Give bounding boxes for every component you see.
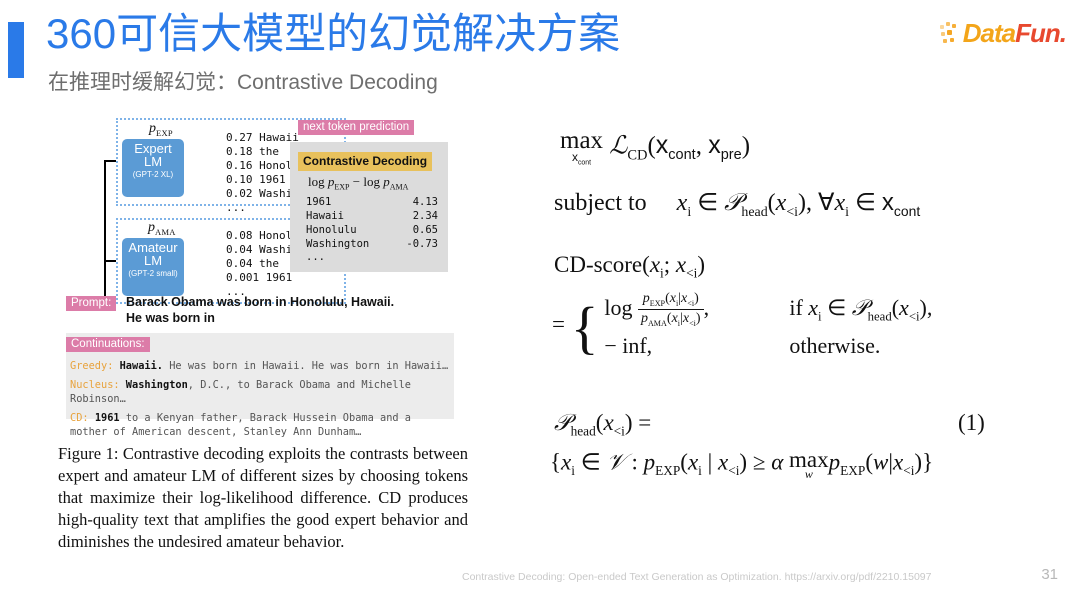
cd-score-token: Honolulu — [306, 224, 392, 238]
case-row-inf: − inf, otherwise. — [604, 329, 932, 362]
loss-symbol: ℒ — [609, 132, 627, 159]
amateur-prob-symbol: pAMA — [148, 220, 176, 237]
max-operator: max xcont — [560, 128, 603, 167]
expert-lm-box: Expert LM (GPT-2 XL) — [122, 139, 184, 197]
vhead-symbol: 𝒫 — [554, 410, 571, 435]
cd-score-formula: log pEXP − log pAMA — [308, 174, 408, 192]
case-log-expression: log pEXP(xi|x<i) pAMA(xi|x<i) , — [604, 291, 789, 329]
equation-number: (1) — [958, 410, 985, 436]
equation-vhead-lhs: 𝒫head(x<i) = — [554, 410, 651, 440]
continuation-method: Nucleus: — [70, 379, 126, 391]
arg-xcont: xcont — [656, 131, 696, 159]
cd-score-token: ... — [306, 251, 392, 265]
logo-text-fun: Fun. — [1015, 18, 1066, 48]
footer-page-number: 31 — [1041, 566, 1058, 583]
amateur-prob-symbol-sub: AMA — [155, 227, 176, 237]
expert-lm-model: (GPT-2 XL) — [122, 171, 184, 179]
continuation-method: CD: — [70, 412, 95, 424]
continuation-first-token: Washington — [126, 379, 188, 391]
page-subtitle: 在推理时缓解幻觉：Contrastive Decoding — [48, 66, 438, 96]
cd-score-value — [392, 251, 438, 265]
cd-score-token: Washington — [306, 238, 392, 252]
datafun-logo: DataFun. — [940, 16, 1066, 50]
cd-score-value: -0.73 — [392, 238, 438, 252]
connector-trunk — [104, 160, 106, 308]
case-inf-condition: otherwise. — [789, 329, 880, 362]
cd-score-token: Hawaii — [306, 210, 392, 224]
constraint-xi: xi — [677, 190, 692, 216]
cases-block: log pEXP(xi|x<i) pAMA(xi|x<i) , if xi ∈ … — [604, 291, 932, 362]
cd-score-row: Hawaii2.34 — [306, 210, 438, 224]
cd-score-value: 2.34 — [392, 210, 438, 224]
case-inf-expression: − inf, — [604, 329, 789, 362]
vhead-subscript: head — [571, 424, 596, 439]
cd-score-list: 19614.13Hawaii2.34Honolulu0.65Washington… — [306, 196, 438, 265]
title-accent-bar — [8, 22, 24, 78]
figure-caption: Figure 1: Contrastive decoding exploits … — [58, 443, 468, 553]
expert-lm-name-line1: Expert — [122, 142, 184, 155]
max-operator-label: max — [560, 128, 603, 153]
equation-vhead-rhs: {xi ∈ 𝒱 : pEXP(xi | x<i) ≥ α max w pEXP(… — [550, 448, 933, 480]
case-row-log: log pEXP(xi|x<i) pAMA(xi|x<i) , if xi ∈ … — [604, 291, 932, 329]
equation-cdscore-cases: = { log pEXP(xi|x<i) pAMA(xi|x<i) , if x… — [552, 291, 932, 362]
contrastive-decoding-header: Contrastive Decoding — [298, 152, 432, 171]
constraint-xcont: xcont — [882, 189, 920, 216]
max-over-w: max w — [789, 448, 829, 480]
expert-prob-symbol: pEXP — [149, 121, 173, 138]
continuations-tag: Continuations: — [66, 337, 150, 352]
cd-score-value: 4.13 — [392, 196, 438, 210]
logo-text-data: Data — [963, 18, 1015, 48]
page-title: 360可信大模型的幻觉解决方案 — [46, 10, 620, 58]
cd-score-row: 19614.13 — [306, 196, 438, 210]
equals-sign: = — [552, 312, 565, 337]
cd-score-label: CD-score — [554, 252, 642, 277]
equation-cdscore-lhs: CD-score(xi; x<i) — [554, 252, 705, 282]
next-token-prediction-label: next token prediction — [298, 120, 414, 135]
continuation-method: Greedy: — [70, 360, 120, 372]
continuations-list: Greedy: Hawaii. He was born in Hawaii. H… — [70, 359, 450, 444]
paper-figure: pEXP Expert LM (GPT-2 XL) 0.27 Hawaii 0.… — [58, 116, 470, 436]
prompt-text: Barack Obama was born in Honolulu, Hawai… — [126, 294, 396, 326]
continuation-line: Nucleus: Washington, D.C., to Barack Oba… — [70, 378, 450, 406]
amateur-lm-model: (GPT-2 small) — [122, 270, 184, 278]
footer-citation: Contrastive Decoding: Open-ended Text Ge… — [462, 571, 931, 583]
case-if-word: if — [789, 295, 802, 320]
cd-score-row: ... — [306, 251, 438, 265]
loss-subscript: CD — [627, 147, 647, 163]
amateur-lm-name-line2: LM — [122, 254, 184, 267]
alpha-symbol: α — [771, 449, 783, 474]
continuation-first-token: Hawaii. — [120, 360, 163, 372]
case-log-condition: if xi ∈ 𝒫head(x<i), — [789, 291, 932, 329]
fraction-denominator: pAMA(xi|x<i) — [638, 310, 704, 328]
equation-constraint: subject to xi ∈ 𝒫head(x<i), ∀xi ∈ xcont — [554, 188, 920, 221]
logo-dots-icon — [940, 22, 962, 44]
continuation-rest: He was born in Hawaii. He was born in Ha… — [163, 360, 448, 372]
fraction-numerator: pEXP(xi|x<i) — [638, 291, 704, 310]
slide-root: 360可信大模型的幻觉解决方案 在推理时缓解幻觉：Contrastive Dec… — [0, 0, 1080, 608]
cd-score-row: Honolulu0.65 — [306, 224, 438, 238]
continuation-line: Greedy: Hawaii. He was born in Hawaii. H… — [70, 359, 450, 373]
continuation-line: CD: 1961 to a Kenyan father, Barack Huss… — [70, 411, 450, 439]
equation-objective: max xcont ℒCD(xcont, xpre) — [560, 128, 750, 167]
cd-score-row: Washington-0.73 — [306, 238, 438, 252]
subject-to-label: subject to — [554, 190, 647, 216]
amateur-lm-name-line1: Amateur — [122, 241, 184, 254]
arg-xpre: xpre — [708, 131, 741, 159]
expert-lm-name-line2: LM — [122, 155, 184, 168]
logo-text: DataFun. — [963, 18, 1066, 49]
continuation-first-token: 1961 — [95, 412, 120, 424]
cd-score-token: 1961 — [306, 196, 392, 210]
prompt-tag: Prompt: — [66, 296, 116, 311]
log-ratio-fraction: pEXP(xi|x<i) pAMA(xi|x<i) — [638, 291, 704, 328]
expert-prob-symbol-sub: EXP — [156, 128, 173, 138]
cases-brace: { — [571, 312, 599, 344]
cd-score-value: 0.65 — [392, 224, 438, 238]
constraint-vhead: 𝒫 — [724, 190, 741, 216]
amateur-lm-box: Amateur LM (GPT-2 small) — [122, 238, 184, 296]
continuation-rest: to a Kenyan father, Barack Hussein Obama… — [70, 412, 411, 438]
